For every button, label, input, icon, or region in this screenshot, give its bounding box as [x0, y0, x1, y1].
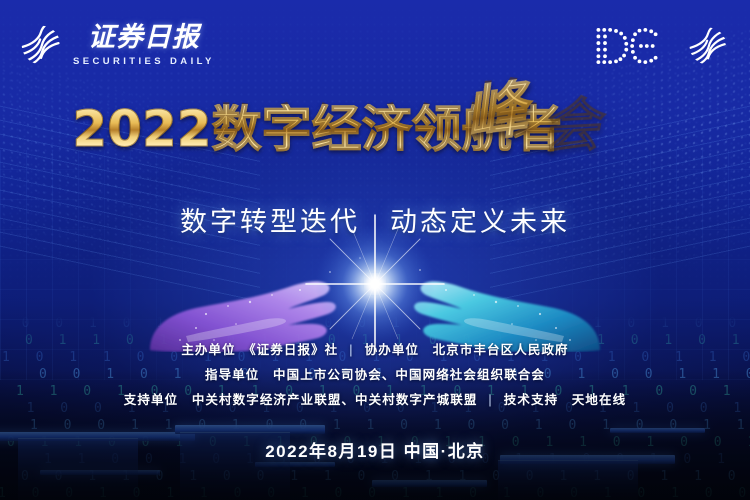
credit-label: 技术支持	[504, 393, 572, 407]
credit-line: 主办单位 《证券日报》社|协办单位 北京市丰台区人民政府	[0, 338, 750, 363]
credit-separator: |	[477, 388, 503, 413]
title-hui-char: 会	[540, 96, 603, 157]
credit-line: 支持单位 中关村数字经济产业联盟、中关村数字产城联盟|技术支持 天地在线	[0, 388, 750, 413]
title-feng-char: 峰	[461, 75, 533, 150]
conference-poster: 1 0 0 1 0 1 1 0 0 1 0 0 1 1 0 1 0 0 1 0 …	[0, 0, 750, 500]
credit-value: 北京市丰台区人民政府	[433, 343, 569, 357]
dcs-logo	[592, 24, 730, 68]
credit-value: 《证券日报》社	[249, 343, 338, 357]
swirl-globe-icon	[686, 24, 730, 68]
credit-label: 支持单位	[124, 393, 192, 407]
credit-label: 主办单位	[181, 343, 249, 357]
title-summit-text: 峰会	[462, 71, 593, 148]
securities-daily-logo: 证券日报 SECURITIES DAILY	[18, 22, 215, 68]
credit-value: 天地在线	[572, 393, 626, 407]
swirl-globe-icon	[18, 22, 64, 68]
credit-label: 协办单位	[365, 343, 433, 357]
credit-value: 中关村数字经济产业联盟、中关村数字产城联盟	[192, 393, 478, 407]
credit-label: 指导单位	[205, 368, 273, 382]
logo-en-name: SECURITIES DAILY	[73, 56, 215, 67]
credit-line: 指导单位 中国上市公司协会、中国网络社会组织联合会	[0, 363, 750, 388]
date-location-line: 2022年8月19日 中国·北京	[0, 437, 750, 462]
credit-separator: |	[338, 338, 364, 363]
logo-cn-name: 证券日报	[88, 24, 200, 51]
hands-artwork-svg	[0, 232, 750, 352]
dcs-dots-icon	[592, 24, 684, 68]
credit-value: 中国上市公司协会、中国网络社会组织联合会	[273, 368, 545, 382]
two-hands-reaching-illustration	[0, 232, 750, 350]
credits-block: 主办单位 《证券日报》社|协办单位 北京市丰台区人民政府 指导单位 中国上市公司…	[0, 338, 750, 413]
poster-title: 2022数字经济领航者 峰会	[0, 104, 750, 154]
